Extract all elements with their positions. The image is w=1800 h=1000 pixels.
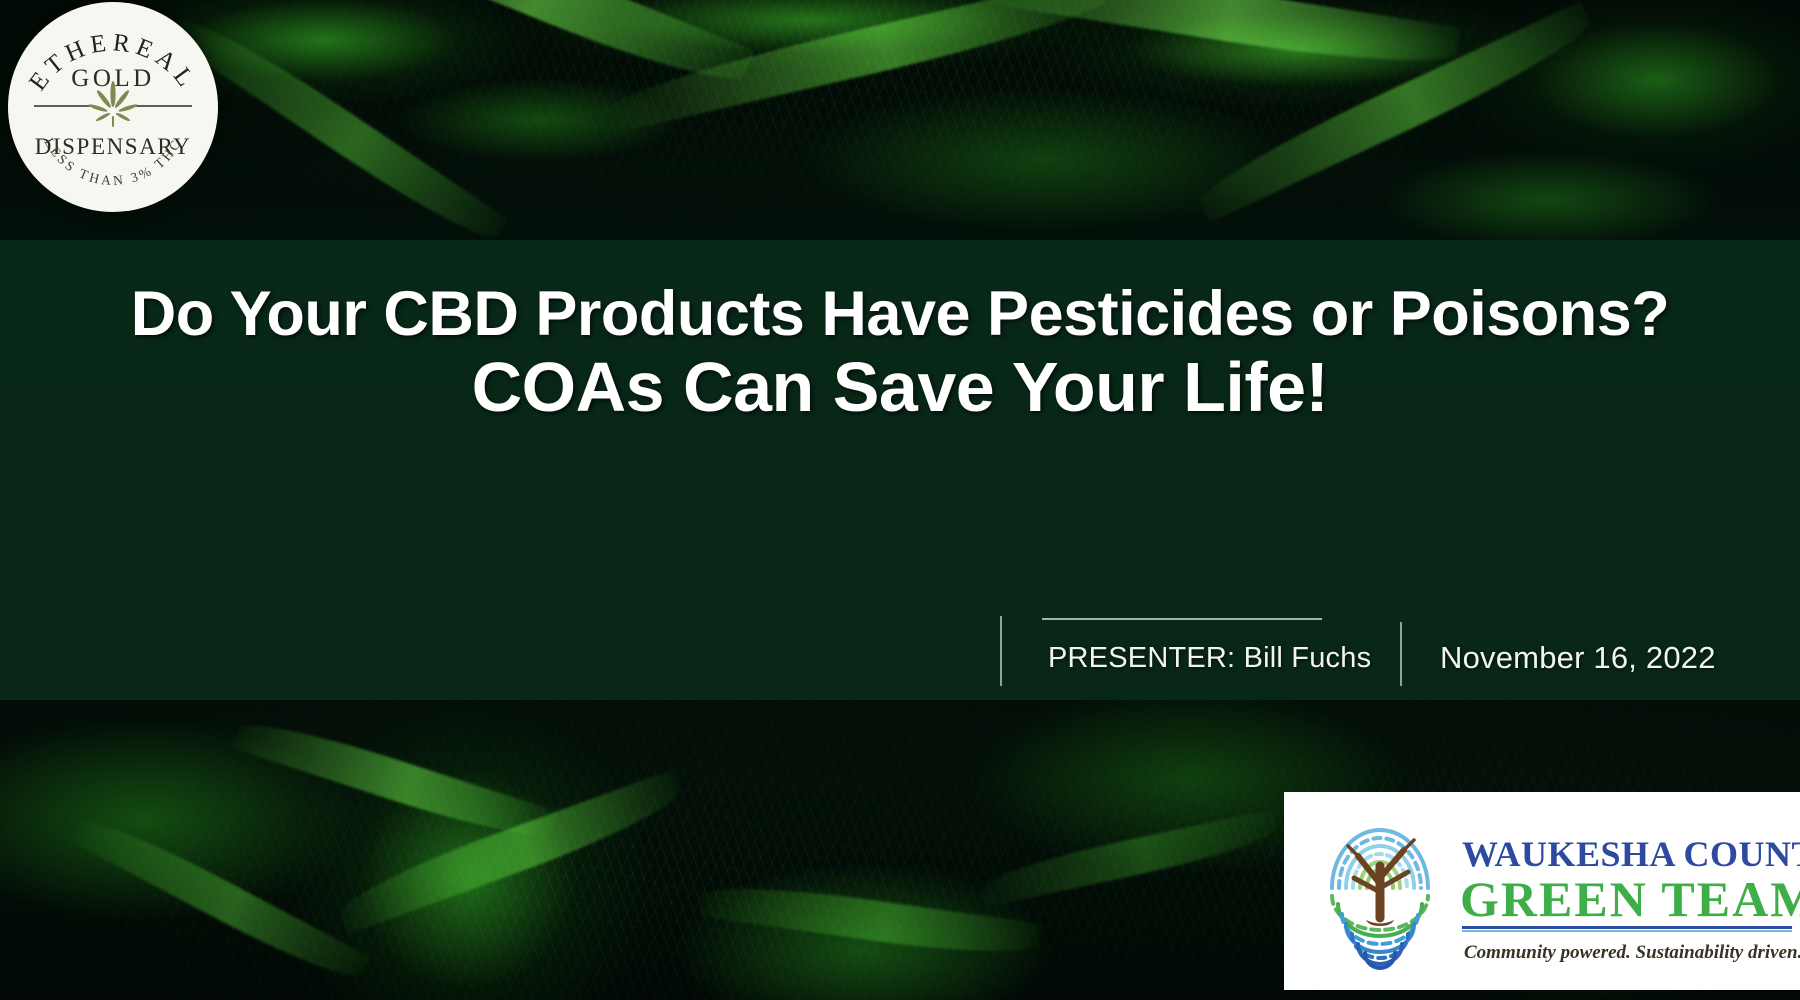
green-team-line1: WAUKESHA COUNTY [1462, 834, 1800, 874]
presenter-label: PRESENTER: Bill Fuchs [1048, 642, 1371, 675]
title-banner: Do Your CBD Products Have Pesticides or … [0, 240, 1800, 700]
presentation-slide: ETHEREAL GOLD DISPENSARY LE [0, 0, 1800, 1000]
credits-mid-divider [1400, 622, 1402, 686]
green-team-tagline: Community powered. Sustainability driven… [1464, 942, 1800, 963]
title-block: Do Your CBD Products Have Pesticides or … [0, 282, 1800, 426]
credits-left-divider [1000, 616, 1002, 686]
credits-row: PRESENTER: Bill Fuchs November 16, 2022 [1000, 570, 1710, 680]
waukesha-county-green-team-logo: WAUKESHA COUNTY GREEN TEAM Community pow… [1284, 792, 1800, 990]
credits-top-rule [1042, 618, 1322, 620]
green-team-line2: GREEN TEAM [1460, 871, 1800, 927]
event-date: November 16, 2022 [1440, 640, 1716, 676]
page-title-line2: COAs Can Save Your Life! [0, 348, 1800, 426]
page-title-line1: Do Your CBD Products Have Pesticides or … [0, 282, 1800, 348]
ethereal-gold-dispensary-seal: ETHEREAL GOLD DISPENSARY LE [8, 2, 218, 212]
